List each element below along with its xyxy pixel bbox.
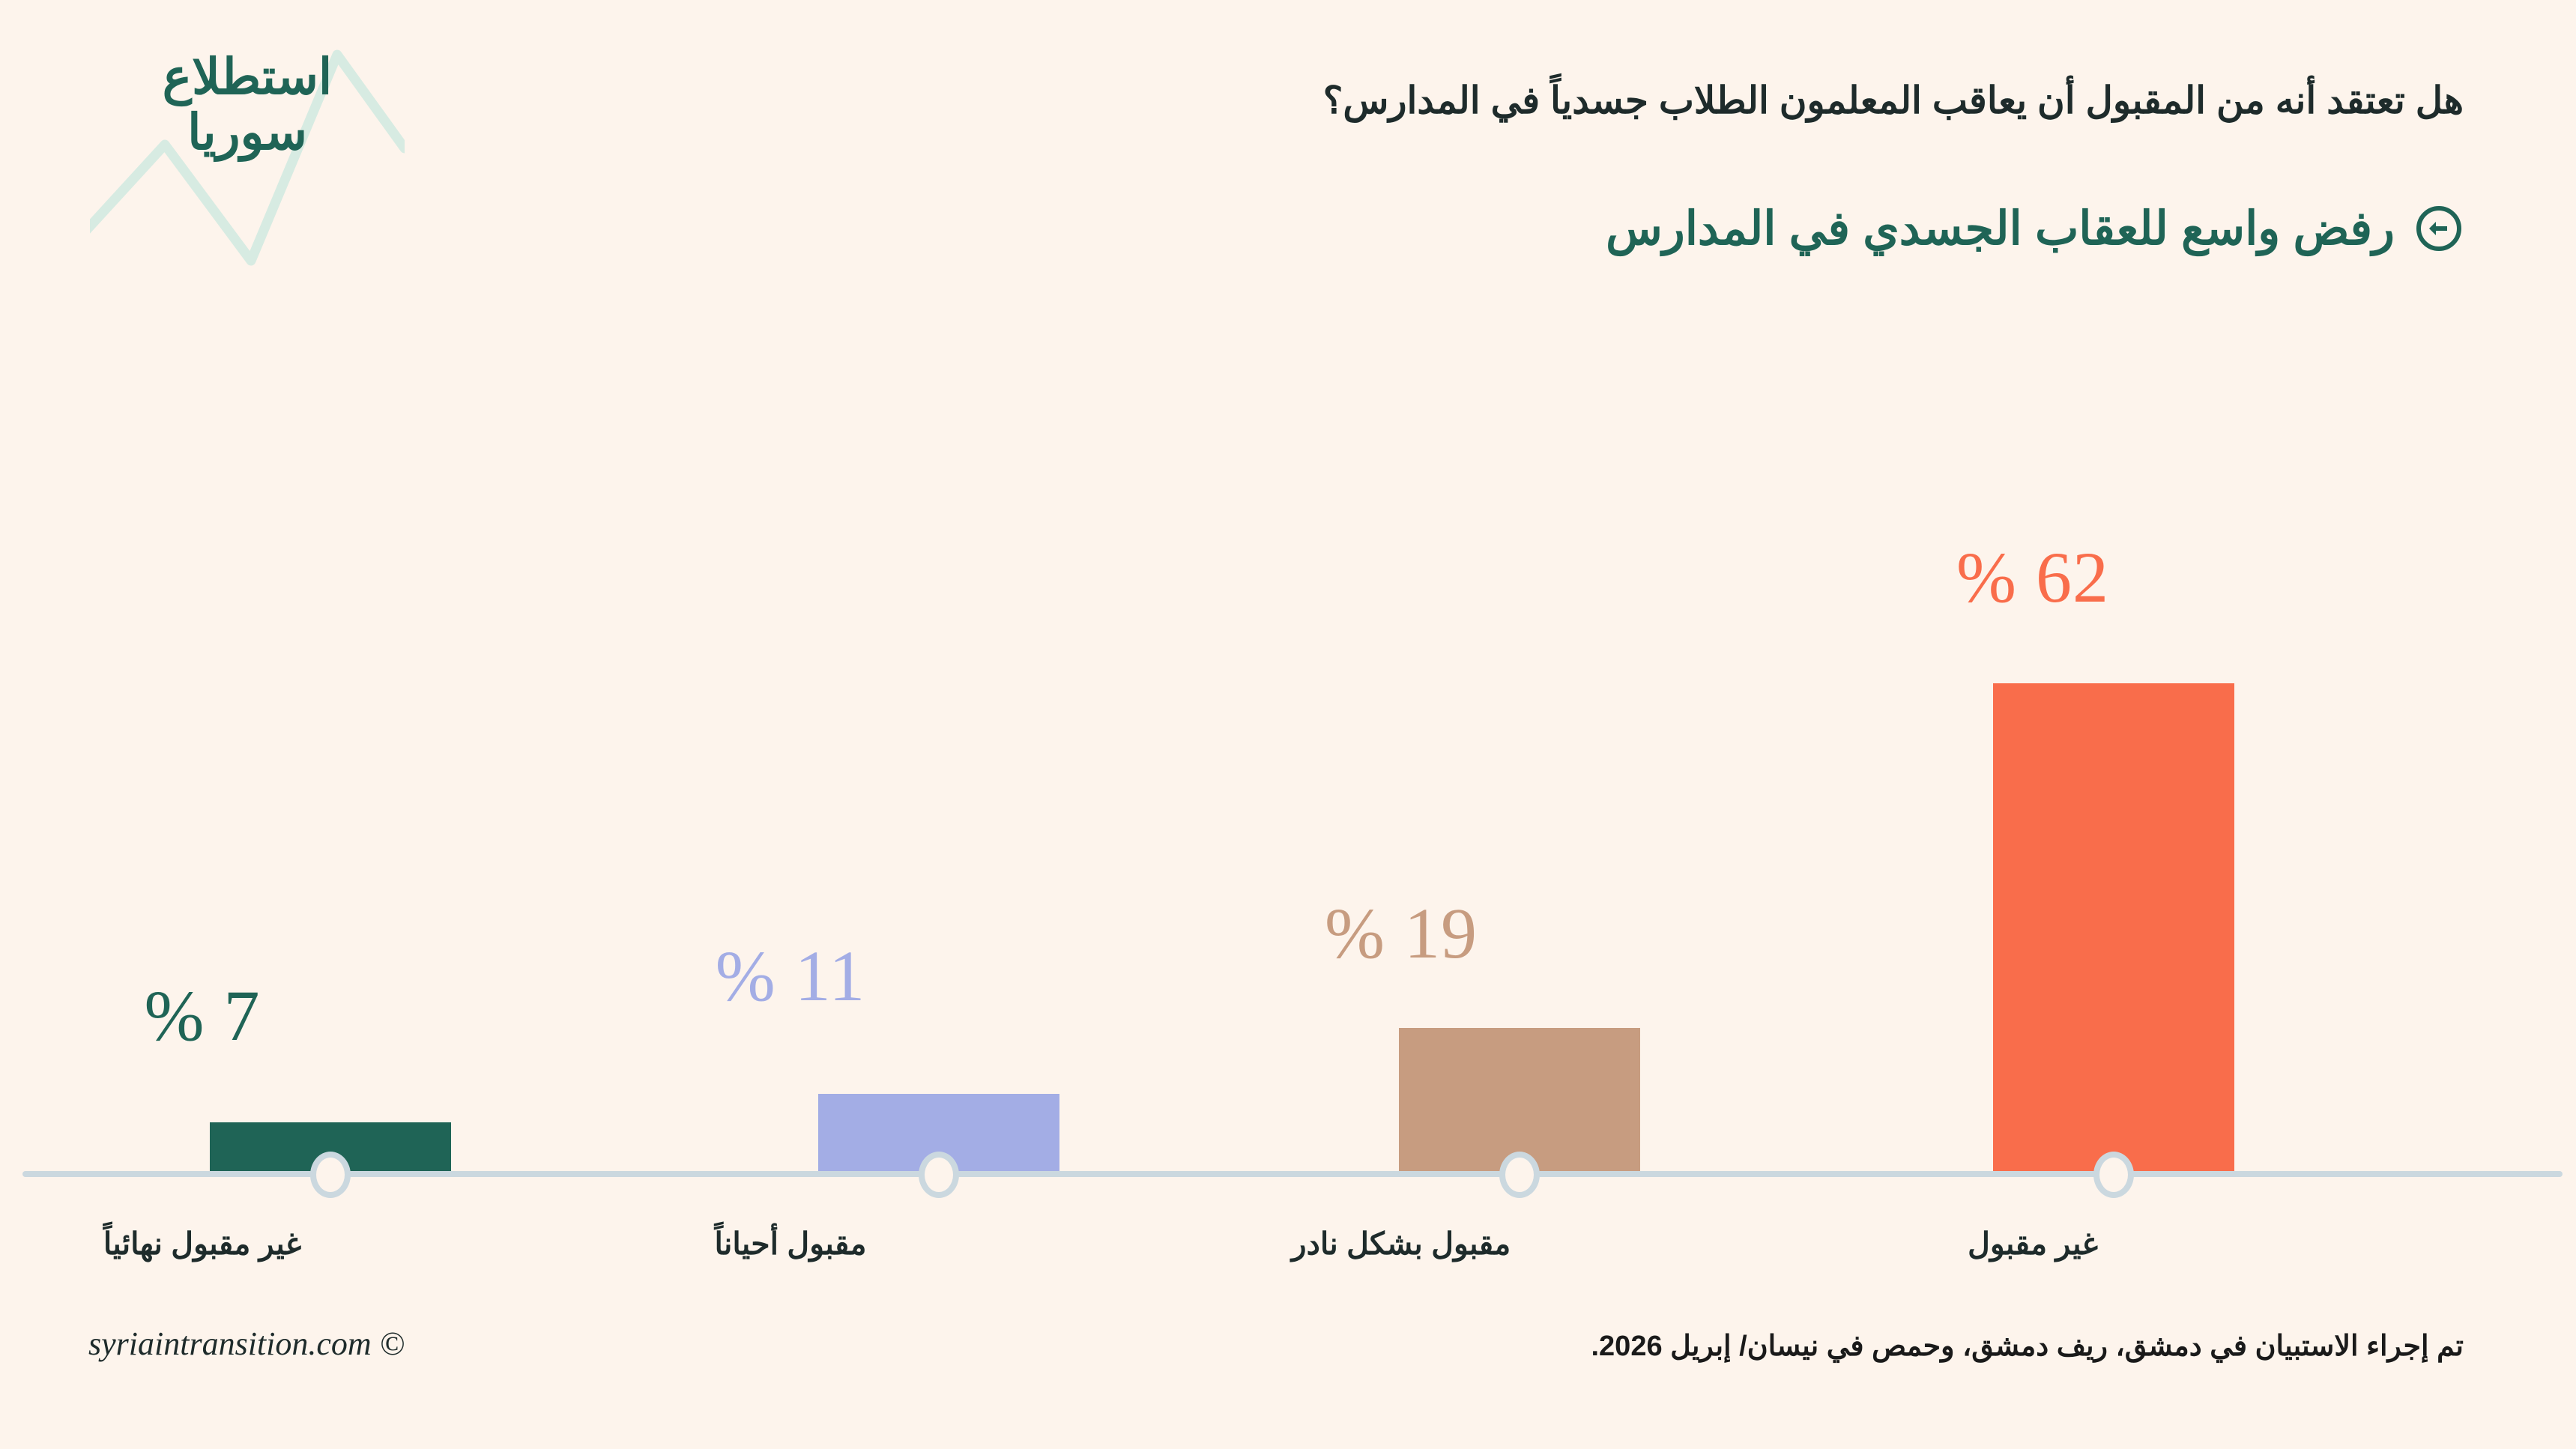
bar-value-label: 11 % [633, 934, 948, 1017]
logo: استطلاع سوريا [90, 13, 405, 283]
page-title: رفض واسع للعقاب الجسدي في المدارس [1606, 201, 2395, 255]
category-label: غير مقبول [1875, 1226, 2190, 1262]
bar-value-label: 7 % [45, 974, 360, 1057]
bar-segment [818, 1094, 1059, 1173]
headline-row: رفض واسع للعقاب الجسدي في المدارس [1606, 201, 2464, 255]
circle-arrow-left-icon [2414, 204, 2464, 253]
bar-value-label: 62 % [1845, 536, 2220, 619]
survey-question: هل تعتقد أنه من المقبول أن يعاقب المعلمو… [1323, 79, 2464, 122]
site-credit[interactable]: syriaintransition.com © [88, 1325, 405, 1363]
chart-baseline [22, 1171, 2563, 1177]
bar-segment [1993, 683, 2234, 1173]
category-node-marker [310, 1152, 351, 1198]
category-label: غير مقبول نهائياً [45, 1226, 360, 1262]
category-node-marker [1499, 1152, 1540, 1198]
category-label: مقبول أحياناً [633, 1226, 948, 1262]
category-label: مقبول بشكل نادر [1244, 1226, 1558, 1262]
bar-segment [1399, 1028, 1640, 1173]
source-note: تم إجراء الاستبيان في دمشق، ريف دمشق، وح… [1591, 1329, 2464, 1363]
bar-value-label: 19 % [1244, 892, 1558, 975]
category-node-marker [2093, 1152, 2134, 1198]
category-node-marker [919, 1152, 959, 1198]
logo-line-2: سوريا [90, 105, 405, 160]
logo-line-1: استطلاع [90, 49, 405, 105]
logo-wordmark: استطلاع سوريا [90, 49, 405, 160]
bar-segment [210, 1122, 451, 1173]
